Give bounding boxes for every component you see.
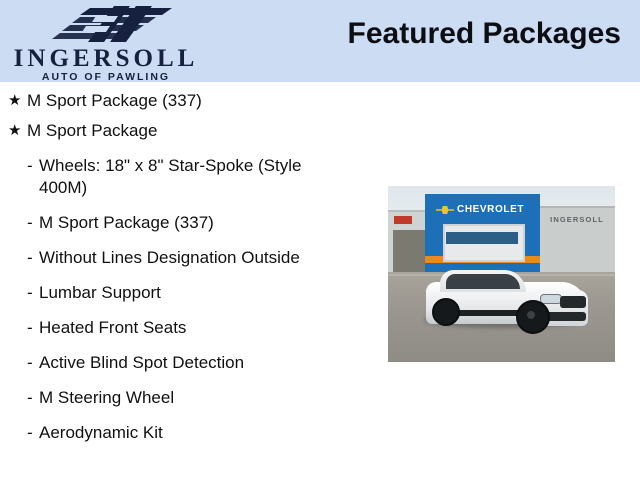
feature-item-label: Without Lines Designation Outside: [39, 247, 300, 269]
photo-chevrolet-sign: CHEVROLET: [457, 204, 524, 216]
feature-item-label: Aerodynamic Kit: [39, 422, 163, 444]
feature-item-label: M Steering Wheel: [39, 387, 174, 409]
dash-bullet-icon: -: [27, 247, 39, 269]
feature-item: ★M Sport Package: [0, 120, 372, 142]
dash-bullet-icon: -: [27, 352, 39, 374]
feature-item: ★M Sport Package (337): [0, 90, 372, 112]
photo-car-rear-wheel: [432, 298, 460, 326]
dealer-logo: INGERSOLL AUTO OF PAWLING: [6, 4, 206, 80]
dash-bullet-icon: -: [27, 317, 39, 339]
feature-item-label: M Sport Package: [27, 120, 157, 142]
dealer-name: INGERSOLL: [6, 46, 206, 71]
feature-item-label: M Sport Package (337): [39, 212, 214, 234]
photo-garage-door: [446, 232, 518, 244]
feature-item-label: Active Blind Spot Detection: [39, 352, 244, 374]
dash-bullet-icon: -: [27, 387, 39, 409]
featured-packages-list: ★M Sport Package (337)★M Sport Package-W…: [0, 82, 372, 444]
feature-item-label: Wheels: 18" x 8" Star-Spoke (Style 400M): [39, 155, 351, 199]
feature-item: -M Steering Wheel: [0, 387, 372, 409]
feature-item: -Without Lines Designation Outside: [0, 247, 372, 269]
photo-car-grille: [560, 296, 586, 308]
page-header: INGERSOLL AUTO OF PAWLING Featured Packa…: [0, 0, 640, 82]
vehicle-photo: INGERSOLL CHEVROLET: [388, 186, 615, 362]
feature-item: -Lumbar Support: [0, 282, 372, 304]
photo-car-glass: [446, 274, 520, 289]
dash-bullet-icon: -: [27, 155, 39, 177]
star-bullet-icon: ★: [8, 90, 27, 112]
dash-bullet-icon: -: [27, 422, 39, 444]
feature-item: -Heated Front Seats: [0, 317, 372, 339]
dealer-tagline: AUTO OF PAWLING: [6, 72, 206, 83]
feature-item: -Aerodynamic Kit: [0, 422, 372, 444]
feature-item: -M Sport Package (337): [0, 212, 372, 234]
dash-bullet-icon: -: [27, 282, 39, 304]
dash-bullet-icon: -: [27, 212, 39, 234]
photo-ingersoll-sign: INGERSOLL: [540, 214, 614, 225]
feature-item: -Active Blind Spot Detection: [0, 352, 372, 374]
feature-item-label: Heated Front Seats: [39, 317, 186, 339]
feature-item: -Wheels: 18" x 8" Star-Spoke (Style 400M…: [0, 155, 372, 199]
ingersoll-wing-emblem-icon: [44, 4, 176, 44]
photo-left-sign: [394, 216, 412, 224]
photo-car-front-hub: [527, 311, 535, 319]
feature-item-label: M Sport Package (337): [27, 90, 202, 112]
feature-item-label: Lumbar Support: [39, 282, 161, 304]
page-title: Featured Packages: [348, 17, 621, 51]
star-bullet-icon: ★: [8, 120, 27, 142]
